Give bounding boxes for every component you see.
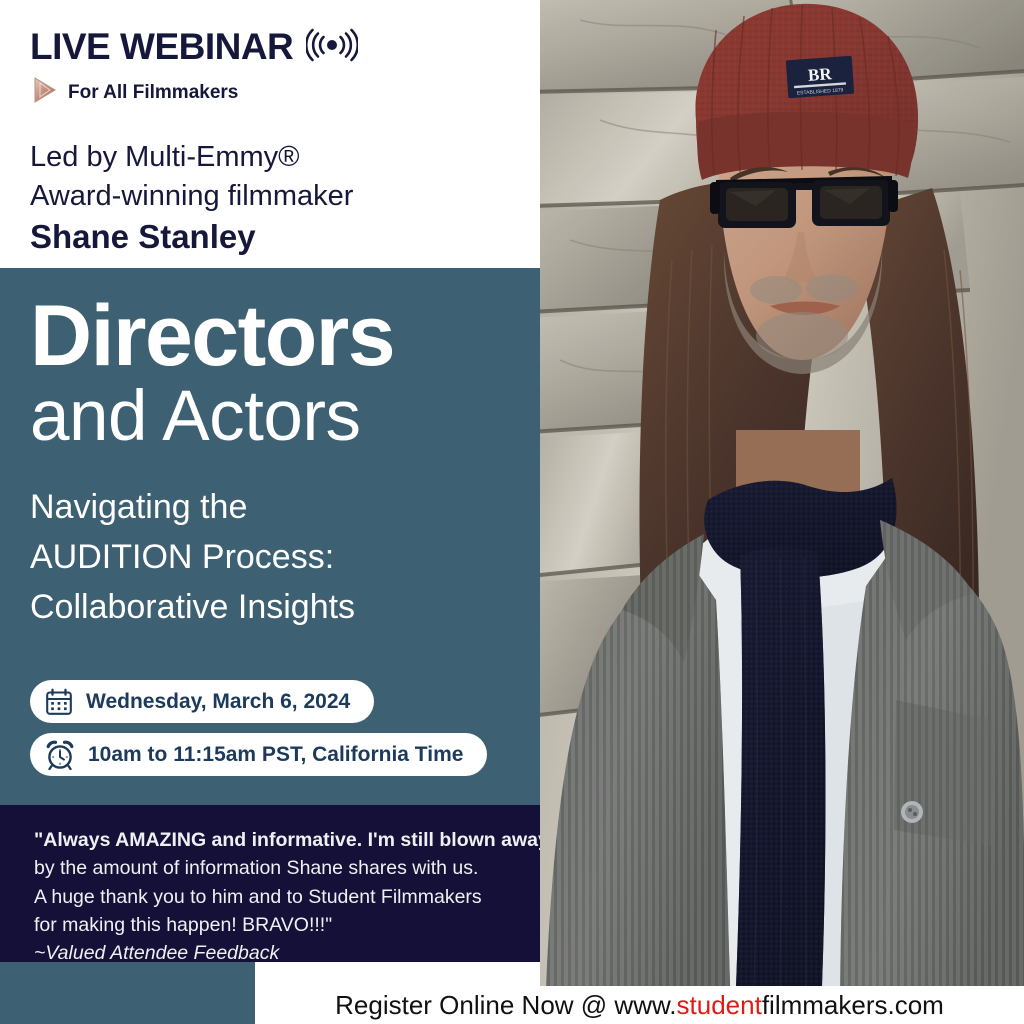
register-suffix: filmmakers.com xyxy=(762,990,944,1020)
time-pill: 10am to 11:15am PST, California Time xyxy=(30,733,487,776)
event-details-pills: Wednesday, March 6, 2024 10am to 11:1 xyxy=(30,680,487,786)
speaker-name: Shane Stanley xyxy=(30,219,540,255)
alarm-clock-icon xyxy=(45,740,75,770)
play-triangle-icon xyxy=(32,76,58,109)
audience-row: For All Filmmakers xyxy=(32,76,540,109)
testimonial-line-3: A huge thank you to him and to Student F… xyxy=(34,883,540,911)
audience-label: For All Filmmakers xyxy=(68,83,238,102)
testimonial-block: "Always AMAZING and informative. I'm sti… xyxy=(0,805,540,962)
bottom-accent-block xyxy=(0,962,255,1024)
subtitle-line-1: Navigating the xyxy=(30,483,540,533)
subtitle-line-2: AUDITION Process: xyxy=(30,533,540,583)
poster-header: LIVE WEBINAR xyxy=(0,0,540,268)
live-webinar-row: LIVE WEBINAR xyxy=(30,26,540,67)
led-by-block: Led by Multi-Emmy® Award-winning filmmak… xyxy=(30,138,540,215)
led-by-line-2: Award-winning filmmaker xyxy=(30,177,540,216)
broadcast-signal-icon xyxy=(306,28,358,67)
subtitle-line-3: Collaborative Insights xyxy=(30,583,540,633)
date-pill: Wednesday, March 6, 2024 xyxy=(30,680,374,723)
led-by-line-1: Led by Multi-Emmy® xyxy=(30,138,540,177)
date-label: Wednesday, March 6, 2024 xyxy=(86,691,350,712)
time-label: 10am to 11:15am PST, California Time xyxy=(88,744,463,765)
webinar-promo-poster: BR ESTABLISHED 1879 xyxy=(0,0,1024,1024)
testimonial-line-4: for making this happen! BRAVO!!!" xyxy=(34,911,540,939)
subtitle-block: Navigating the AUDITION Process: Collabo… xyxy=(30,483,540,633)
register-prefix: Register Online Now @ www. xyxy=(335,990,676,1020)
footer-bar: Register Online Now @ www.studentfilmmak… xyxy=(255,986,1024,1024)
testimonial-line-2: by the amount of information Shane share… xyxy=(34,854,540,882)
testimonial-line-1: "Always AMAZING and informative. I'm sti… xyxy=(34,826,540,854)
speaker-photo: BR ESTABLISHED 1879 xyxy=(540,0,1024,986)
title-and-actors: and Actors xyxy=(30,380,540,455)
register-url[interactable]: Register Online Now @ www.studentfilmmak… xyxy=(335,992,944,1018)
title-directors: Directors xyxy=(30,294,540,378)
testimonial-attribution: ~Valued Attendee Feedback xyxy=(34,939,540,962)
live-webinar-title: LIVE WEBINAR xyxy=(30,28,293,65)
register-highlight: student xyxy=(677,990,762,1020)
calendar-icon xyxy=(45,688,73,716)
